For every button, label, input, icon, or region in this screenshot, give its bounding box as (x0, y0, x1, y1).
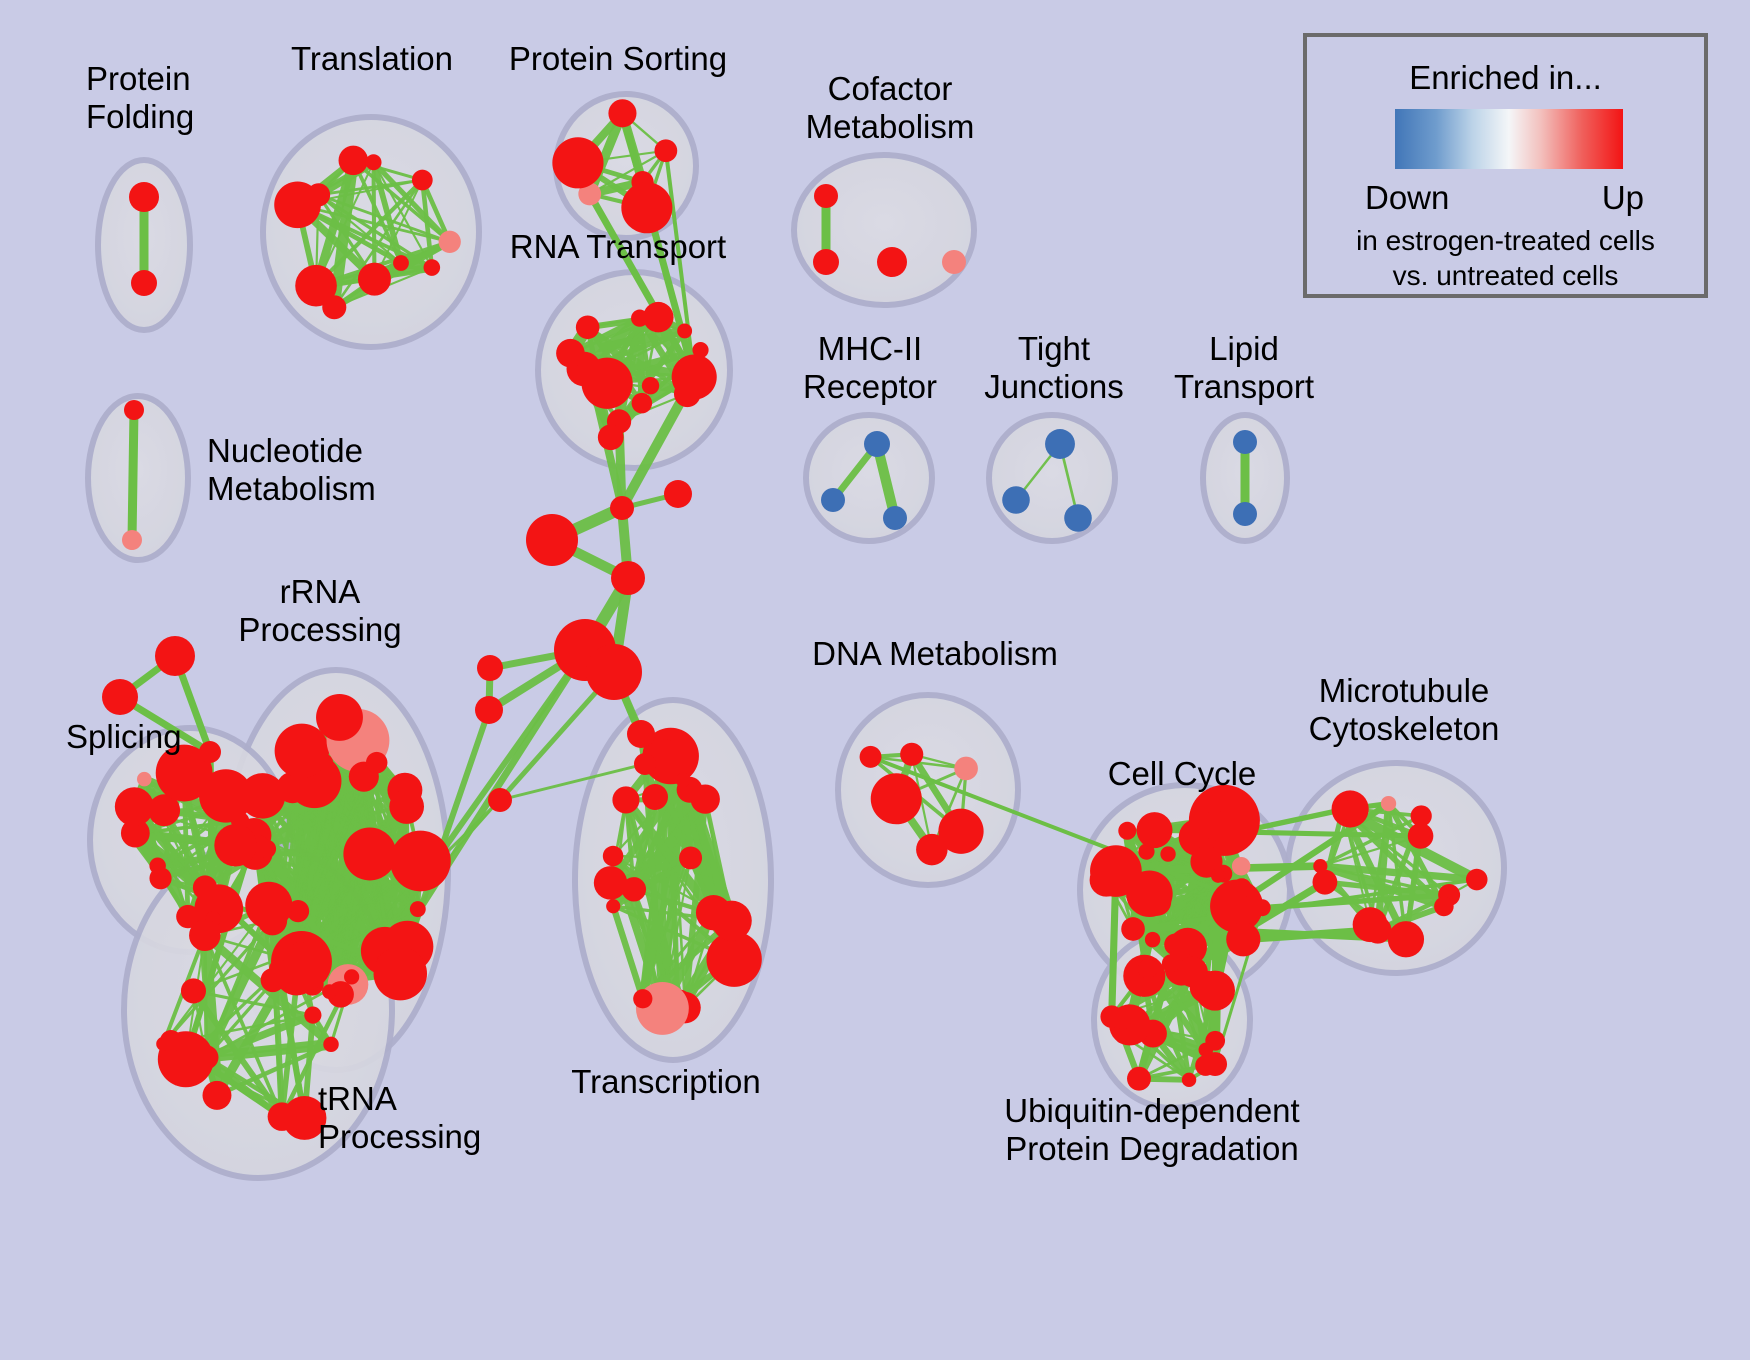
network-node-transcription (655, 739, 676, 760)
network-node-trna-processing (258, 906, 287, 935)
network-node-translation (358, 263, 391, 296)
cluster-label-lipid-transport: Lipid Transport (1174, 330, 1314, 406)
network-node-splicing (137, 772, 152, 787)
network-node-bridge (477, 655, 503, 681)
network-node-translation (295, 265, 337, 307)
cluster-label-dna-metabolism: DNA Metabolism (812, 635, 1058, 673)
legend-panel: Enriched in... Down Up in estrogen-treat… (1303, 33, 1708, 298)
network-node-ubiquitin-protein-degradation (1182, 1073, 1196, 1087)
network-node-splicing (214, 824, 256, 866)
network-node-microtubule-cytoskeleton (1353, 907, 1388, 942)
cluster-label-nucleotide-metabolism: Nucleotide Metabolism (207, 432, 376, 508)
network-node-rna-transport (632, 393, 653, 414)
network-node-splicing (199, 741, 221, 763)
legend-down-label: Down (1365, 179, 1449, 217)
network-node-ubiquitin-protein-degradation (1205, 1031, 1225, 1051)
network-node-splicing (155, 636, 195, 676)
network-node-microtubule-cytoskeleton (1388, 921, 1424, 957)
cluster-label-splicing: Splicing (66, 718, 182, 756)
network-node-rna-transport (692, 342, 708, 358)
network-node-microtubule-cytoskeleton (1466, 869, 1488, 891)
legend-subtitle-line2: vs. untreated cells (1307, 260, 1704, 292)
network-node-trna-processing (181, 978, 206, 1003)
cluster-label-rrna-processing: rRNA Processing (238, 573, 401, 649)
network-node-translation (424, 259, 441, 276)
network-node-translation (339, 146, 368, 175)
network-node-ubiquitin-protein-degradation (1115, 1028, 1131, 1044)
network-node-bridge (488, 788, 512, 812)
network-node-bridge (634, 753, 656, 775)
network-node-rrna-processing (389, 789, 424, 824)
network-node-cell-cycle (1211, 869, 1225, 883)
network-node-ubiquitin-protein-degradation (1127, 1067, 1151, 1091)
network-node-translation (393, 255, 409, 271)
network-node-ubiquitin-protein-degradation (1100, 1005, 1123, 1028)
network-node-ubiquitin-protein-degradation (1195, 1055, 1216, 1076)
network-node-cell-cycle (1164, 934, 1186, 956)
network-node-cell-cycle (1118, 822, 1136, 840)
network-node-splicing (231, 812, 249, 830)
network-node-rrna-processing (410, 901, 426, 917)
network-node-nucleotide-metabolism (124, 400, 144, 420)
legend-title: Enriched in... (1307, 59, 1704, 97)
network-node-cell-cycle (1137, 812, 1173, 848)
network-node-splicing (193, 875, 217, 899)
network-node-splicing (115, 787, 154, 826)
network-node-microtubule-cytoskeleton (1332, 799, 1353, 820)
cluster-label-ubiquitin-protein-degradation: Ubiquitin-dependent Protein Degradation (1004, 1092, 1299, 1168)
network-node-transcription (696, 895, 731, 930)
network-node-dna-metabolism (900, 743, 923, 766)
network-node-rrna-processing (261, 968, 285, 992)
network-node-cofactor-metabolism (942, 250, 966, 274)
network-node-bridge (610, 496, 634, 520)
network-node-nucleotide-metabolism (122, 530, 142, 550)
enrichment-map-figure: Protein FoldingTranslationProtein Sortin… (0, 0, 1750, 1360)
network-node-bridge (526, 514, 578, 566)
network-node-cell-cycle (1125, 919, 1139, 933)
network-node-mhc-ii-receptor (821, 488, 845, 512)
network-node-cell-cycle (1145, 932, 1160, 947)
network-node-cofactor-metabolism (814, 184, 838, 208)
network-node-dna-metabolism (954, 757, 978, 781)
network-node-protein-sorting (621, 182, 672, 233)
network-node-transcription (594, 866, 627, 899)
network-node-microtubule-cytoskeleton (1408, 823, 1434, 849)
network-node-transcription (691, 784, 720, 813)
network-node-translation (439, 231, 461, 253)
network-node-rna-transport (556, 339, 585, 368)
network-node-lipid-transport (1233, 430, 1257, 454)
network-node-rrna-processing (316, 754, 333, 771)
network-node-rrna-processing (390, 831, 451, 892)
network-node-cell-cycle (1201, 811, 1230, 840)
network-node-rrna-processing (322, 984, 337, 999)
network-node-cell-cycle (1160, 846, 1175, 861)
network-node-trna-processing (323, 1037, 338, 1052)
network-node-dna-metabolism (871, 773, 922, 824)
network-node-bridge (475, 696, 503, 724)
cluster-label-cell-cycle: Cell Cycle (1108, 755, 1257, 793)
network-node-lipid-transport (1233, 502, 1257, 526)
network-node-cell-cycle (1232, 878, 1252, 898)
network-node-rrna-processing (343, 827, 396, 880)
network-node-cell-cycle (1090, 863, 1123, 896)
network-node-microtubule-cytoskeleton (1434, 897, 1454, 917)
network-node-transcription (633, 989, 652, 1008)
legend-up-label: Up (1602, 179, 1644, 217)
cluster-label-mhc-ii-receptor: MHC-II Receptor (803, 330, 937, 406)
network-node-protein-folding (131, 270, 157, 296)
network-node-transcription (612, 786, 639, 813)
network-edge (132, 410, 134, 540)
cluster-label-rna-transport: RNA Transport (510, 228, 726, 266)
network-node-translation (366, 154, 382, 170)
network-node-dna-metabolism (916, 834, 948, 866)
network-node-bridge (627, 720, 655, 748)
network-node-splicing (258, 840, 277, 859)
network-node-rna-transport (677, 323, 692, 338)
network-node-splicing (160, 1030, 182, 1052)
network-node-transcription (606, 899, 620, 913)
network-node-trna-processing (344, 969, 359, 984)
cluster-label-protein-folding: Protein Folding (86, 60, 194, 136)
cluster-label-translation: Translation (291, 40, 453, 78)
cluster-label-transcription: Transcription (571, 1063, 761, 1101)
network-node-ubiquitin-protein-degradation (1195, 971, 1235, 1011)
cluster-label-cofactor-metabolism: Cofactor Metabolism (806, 70, 975, 146)
cluster-label-trna-processing: tRNA Processing (318, 1080, 481, 1156)
network-node-bridge (664, 480, 692, 508)
network-node-trna-processing (291, 942, 310, 961)
network-node-mhc-ii-receptor (883, 506, 907, 530)
network-node-ubiquitin-protein-degradation (1162, 954, 1180, 972)
network-node-rna-transport (576, 315, 600, 339)
network-node-rrna-processing (366, 752, 387, 773)
network-node-protein-sorting (552, 137, 603, 188)
network-node-translation (274, 181, 321, 228)
network-node-bridge (586, 644, 642, 700)
network-node-bridge (611, 561, 645, 595)
network-node-trna-processing (189, 920, 220, 951)
network-node-protein-folding (129, 182, 159, 212)
network-node-tight-junctions (1002, 486, 1030, 514)
network-node-rrna-processing (374, 947, 427, 1000)
network-node-rrna-processing (316, 694, 363, 741)
network-node-rna-transport (642, 377, 659, 394)
cluster-halo-cofactor-metabolism (794, 155, 974, 305)
network-node-tight-junctions (1045, 429, 1075, 459)
network-node-splicing (149, 858, 165, 874)
network-node-splicing (102, 679, 138, 715)
network-node-cofactor-metabolism (877, 247, 907, 277)
network-node-bridge (642, 784, 668, 810)
network-node-tight-junctions (1064, 504, 1092, 532)
network-node-transcription (603, 846, 624, 867)
network-node-mhc-ii-receptor (864, 431, 890, 457)
network-node-cofactor-metabolism (813, 249, 839, 275)
network-node-microtubule-cytoskeleton (1381, 796, 1396, 811)
network-node-trna-processing (202, 1081, 231, 1110)
network-node-cell-cycle (1226, 922, 1260, 956)
network-node-protein-sorting (608, 99, 636, 127)
network-node-transcription (676, 773, 691, 788)
network-node-microtubule-cytoskeleton (1312, 870, 1337, 895)
network-node-cell-cycle (1232, 857, 1251, 876)
network-node-rna-transport (598, 424, 624, 450)
network-node-trna-processing (304, 1007, 321, 1024)
network-node-rna-transport (643, 302, 673, 332)
network-node-transcription (679, 846, 702, 869)
network-node-protein-sorting (654, 139, 677, 162)
cluster-label-tight-junctions: Tight Junctions (984, 330, 1123, 406)
network-node-translation (412, 170, 433, 191)
network-node-ubiquitin-protein-degradation (1138, 959, 1158, 979)
network-node-rna-transport (674, 380, 701, 407)
legend-subtitle-line1: in estrogen-treated cells (1307, 225, 1704, 257)
cluster-label-microtubule-cytoskeleton: Microtubule Cytoskeleton (1309, 672, 1500, 748)
cluster-label-protein-sorting: Protein Sorting (509, 40, 727, 78)
legend-color-gradient-bar (1395, 109, 1623, 169)
network-node-dna-metabolism (860, 746, 882, 768)
